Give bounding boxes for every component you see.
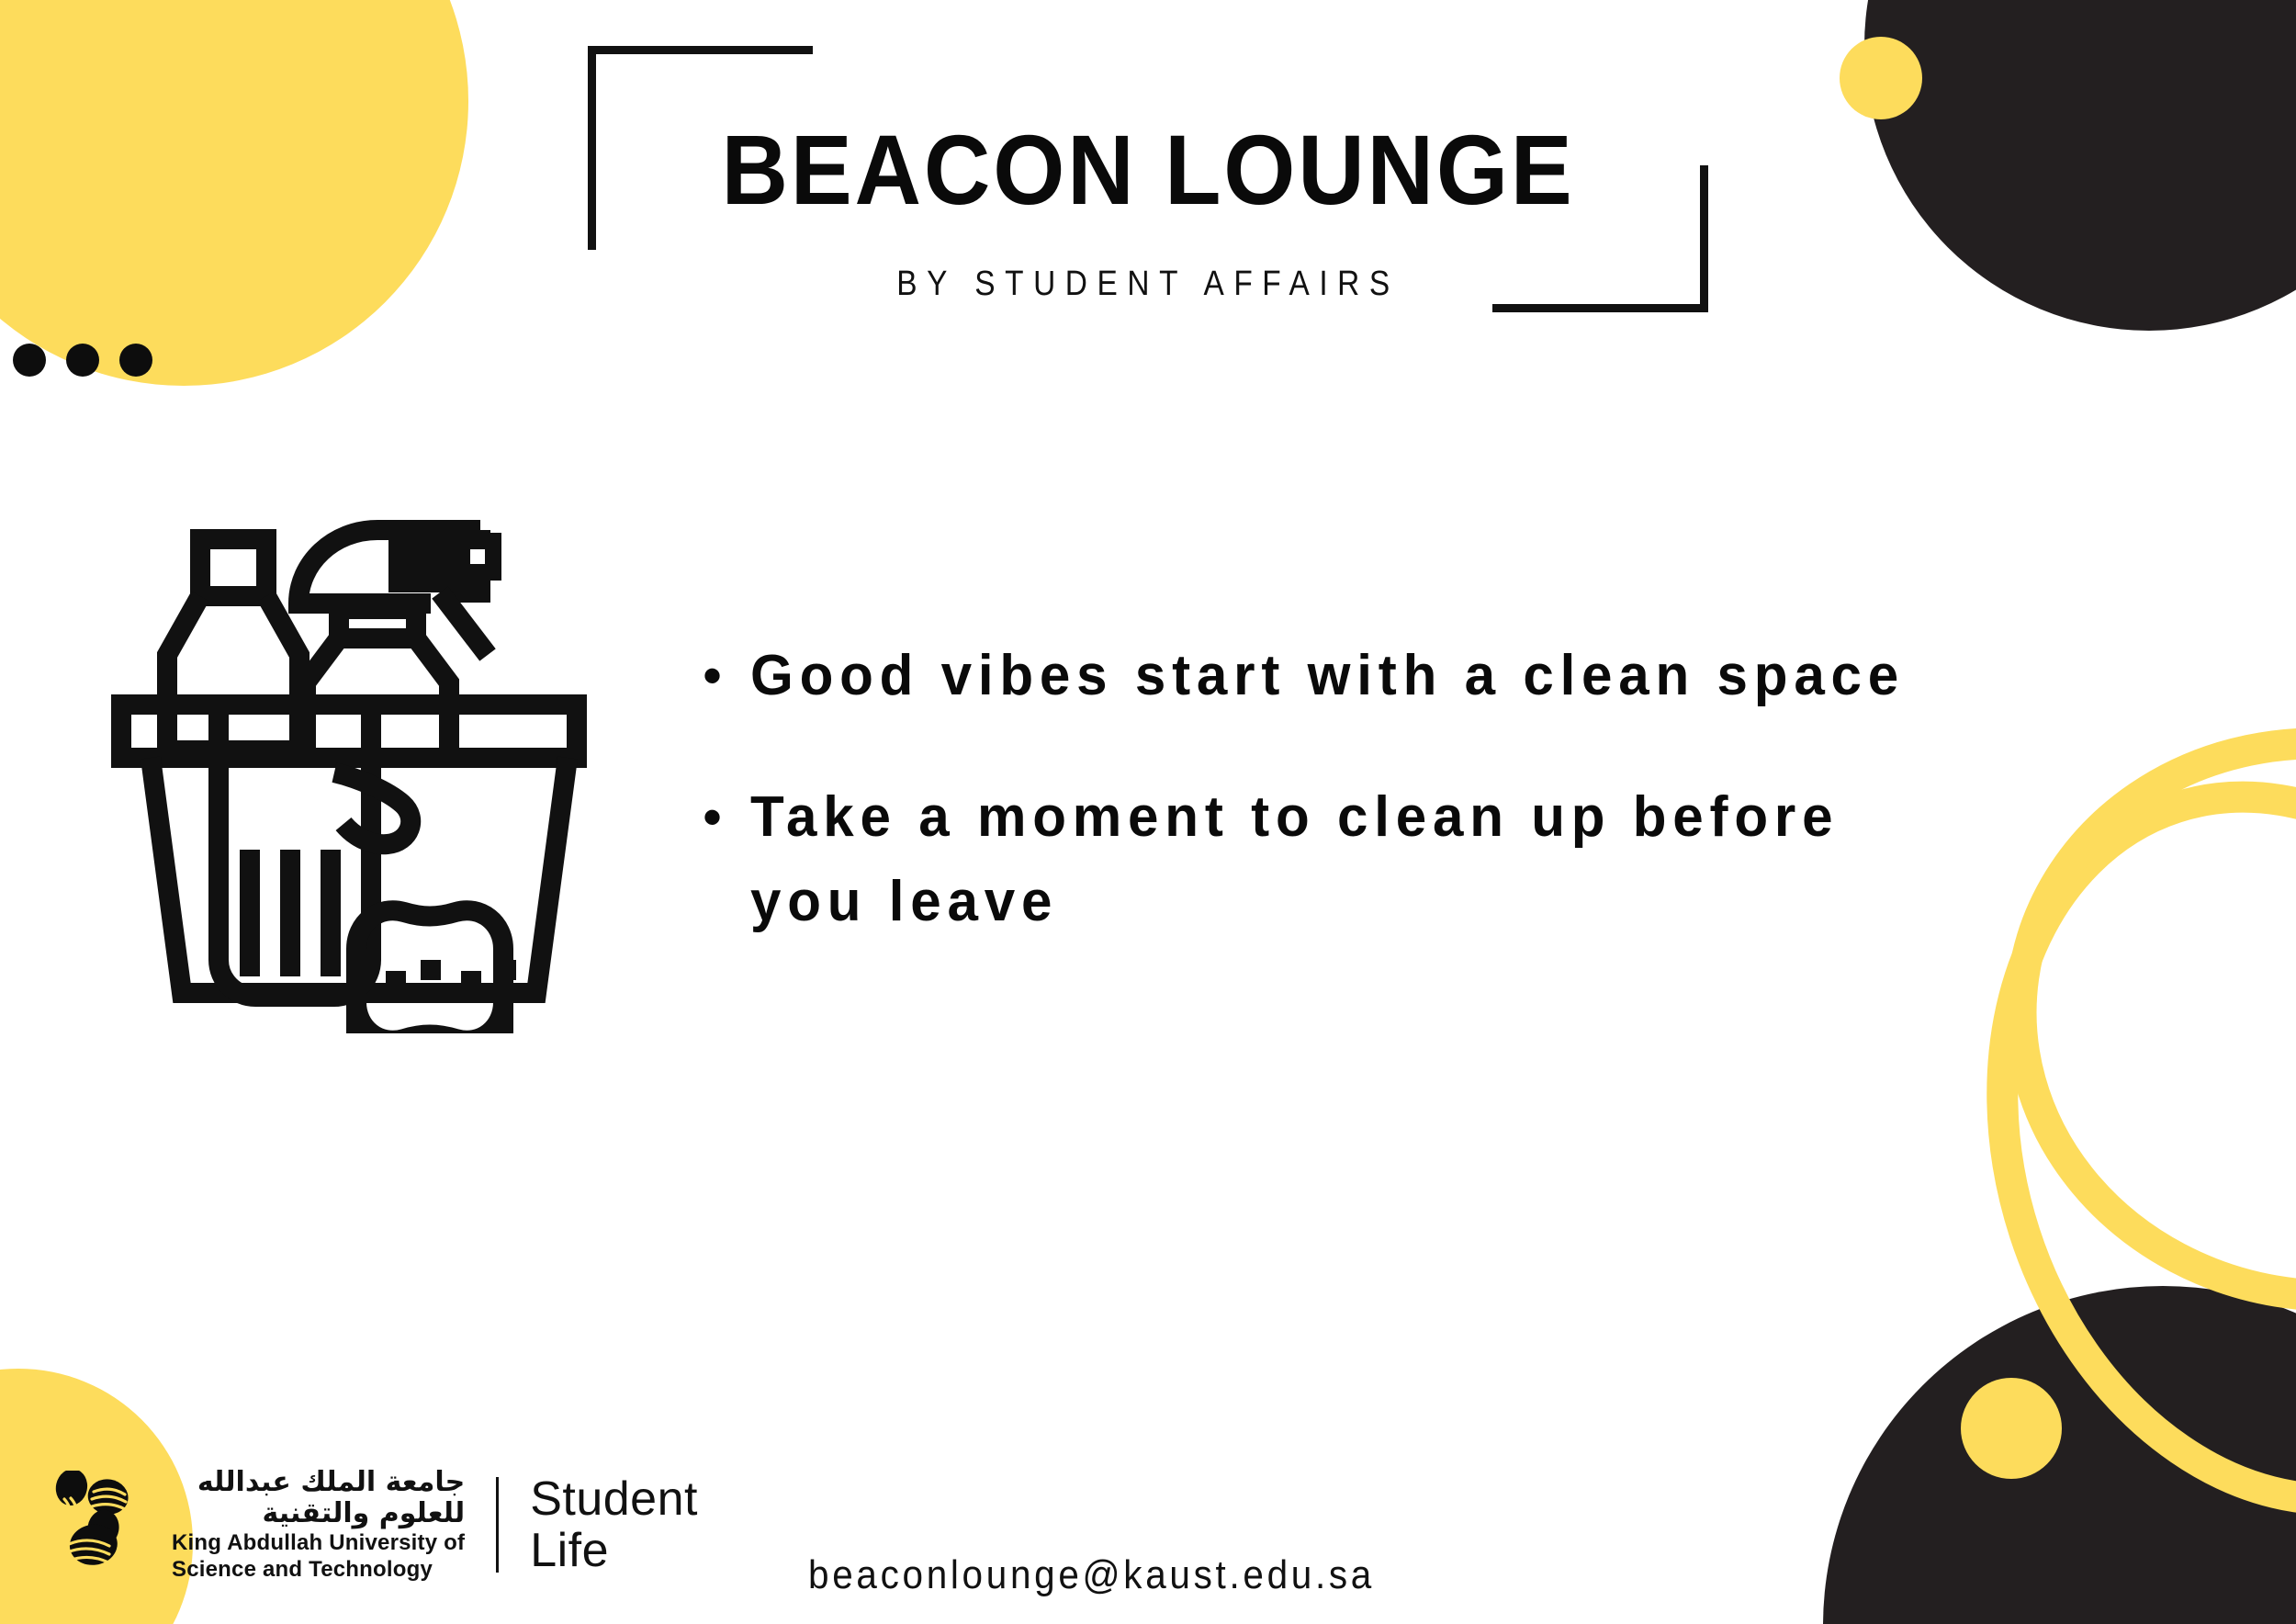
glove-fingers-shape (250, 850, 331, 976)
student-life-line-1: Student (530, 1473, 698, 1525)
logo-divider (496, 1477, 499, 1573)
three-dots-decoration (13, 344, 152, 377)
poster-canvas: BEACON LOUNGE BY STUDENT AFFAIRS (0, 0, 2296, 1624)
contact-email[interactable]: beaconlounge@kaust.edu.sa (808, 1552, 1375, 1598)
spray-cap-hole-shape (462, 541, 493, 572)
student-life-wordmark: Student Life (530, 1473, 698, 1576)
bullet-marker-icon: • (703, 634, 750, 718)
cleaning-supplies-icon (101, 501, 615, 1033)
list-item: • Good vibes start with a clean space (703, 634, 1988, 718)
kaust-english-line-1: King Abdullah University of (172, 1529, 465, 1556)
yellow-dot-topright-decoration (1840, 37, 1922, 119)
bottle-body-shape (167, 596, 299, 750)
bullet-text: Good vibes start with a clean space (750, 634, 1905, 718)
page-subtitle: BY STUDENT AFFAIRS (655, 265, 1641, 304)
dark-blob-topright-decoration (1864, 0, 2296, 331)
bottle-cap-shape (200, 539, 266, 596)
yellow-blob-topleft-decoration (0, 0, 468, 386)
bullet-marker-icon: • (703, 775, 750, 860)
kaust-pinwheel-glyph (51, 1471, 150, 1579)
page-title: BEACON LOUNGE (627, 118, 1670, 221)
kaust-arabic-line-1: جامعة الملك عبدالله (172, 1467, 465, 1498)
student-life-line-2: Life (530, 1525, 698, 1576)
bullet-list: • Good vibes start with a clean space • … (703, 634, 1988, 1001)
poster-header: BEACON LOUNGE BY STUDENT AFFAIRS (588, 46, 1708, 321)
dot-icon (66, 344, 99, 377)
cleaning-supplies-glyph (101, 501, 615, 1033)
dot-icon (13, 344, 46, 377)
kaust-wordmark: جامعة الملك عبدالله للعلوم والتقنية King… (172, 1467, 465, 1583)
kaust-student-life-logo: جامعة الملك عبدالله للعلوم والتقنية King… (51, 1465, 698, 1585)
bullet-text: Take a moment to clean up before you lea… (750, 775, 1926, 944)
dot-icon (119, 344, 152, 377)
spray-label-shape (339, 609, 416, 638)
kaust-english-line-2: Science and Technology (172, 1556, 465, 1583)
bucket-rim-shape (121, 705, 577, 758)
kaust-pinwheel-icon (51, 1471, 150, 1579)
list-item: • Take a moment to clean up before you l… (703, 775, 1988, 944)
kaust-arabic-line-2: للعلوم والتقنية (172, 1498, 465, 1529)
